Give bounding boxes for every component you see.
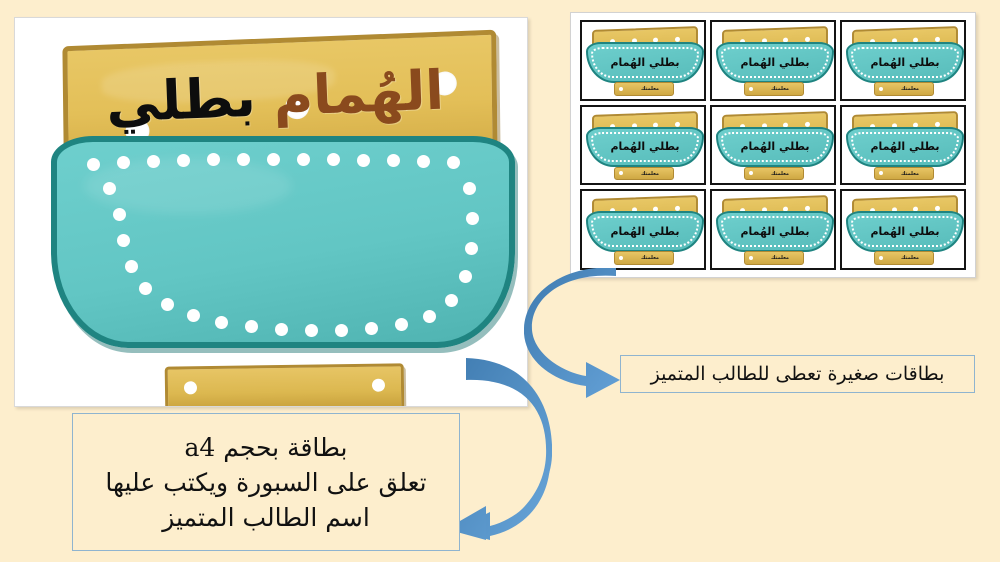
- plate-hole: [749, 256, 753, 260]
- mini-card[interactable]: بطلي الهُمام معلمتك: [580, 189, 706, 270]
- mini-card[interactable]: بطلي الهُمام معلمتك: [840, 105, 966, 186]
- mini-card-title: بطلي الهُمام: [740, 140, 809, 153]
- mini-card[interactable]: بطلي الهُمام معلمتك: [710, 20, 836, 101]
- mini-nameplate: معلمتك: [744, 82, 805, 95]
- mini-card-title: بطلي الهُمام: [870, 140, 939, 153]
- a4-teal-body: [51, 136, 515, 348]
- plate-hole: [372, 379, 385, 392]
- a4-card-panel[interactable]: الهُمام بطلي: [14, 17, 528, 407]
- banner-hole: [675, 206, 680, 211]
- mini-teal-body: بطلي الهُمام: [586, 211, 705, 252]
- banner-hole: [805, 206, 810, 211]
- mini-nameplate: معلمتك: [614, 82, 675, 95]
- mini-card-title: بطلي الهُمام: [740, 56, 809, 69]
- mini-card-title: بطلي الهُمام: [870, 225, 939, 238]
- mini-plate-label: معلمتك: [901, 86, 919, 92]
- mini-cards-sheet[interactable]: بطلي الهُمام معلمتك بطلي الهُمام معلمتك: [570, 12, 976, 278]
- mini-plate-label: معلمتك: [771, 86, 789, 92]
- callout-a4-card[interactable]: بطاقة بحجم a4 تعلق على السبورة ويكتب علي…: [72, 413, 460, 551]
- a4-gold-nameplate: [165, 363, 405, 407]
- banner-hole: [935, 121, 940, 126]
- banner-hole: [675, 36, 680, 41]
- plate-hole: [879, 171, 883, 175]
- mini-plate-label: معلمتك: [641, 86, 659, 92]
- callout-right-text: بطاقات صغيرة تعطى للطالب المتميز: [651, 363, 945, 385]
- callout-mini-cards[interactable]: بطاقات صغيرة تعطى للطالب المتميز: [620, 355, 975, 393]
- mini-teal-body: بطلي الهُمام: [586, 42, 705, 83]
- mini-card-title: بطلي الهُمام: [610, 56, 679, 69]
- banner-hole: [805, 121, 810, 126]
- mini-nameplate: معلمتك: [614, 167, 675, 181]
- mini-teal-body: بطلي الهُمام: [716, 42, 835, 83]
- banner-hole: [675, 121, 680, 126]
- mini-card-title: بطلي الهُمام: [740, 225, 809, 238]
- mini-card-title: بطلي الهُمام: [870, 56, 939, 69]
- mini-card[interactable]: بطلي الهُمام معلمتك: [840, 20, 966, 101]
- plate-hole: [184, 381, 197, 394]
- slide-canvas: الهُمام بطلي: [0, 0, 1000, 562]
- mini-nameplate: معلمتك: [874, 251, 935, 264]
- mini-plate-label: معلمتك: [641, 171, 659, 177]
- mini-nameplate: معلمتك: [874, 82, 935, 95]
- mini-plate-label: معلمتك: [901, 255, 919, 261]
- mini-teal-body: بطلي الهُمام: [846, 211, 965, 252]
- mini-card[interactable]: بطلي الهُمام معلمتك: [580, 20, 706, 101]
- plate-hole: [619, 256, 623, 260]
- mini-teal-body: بطلي الهُمام: [846, 127, 965, 168]
- plate-hole: [879, 87, 883, 91]
- mini-card-title: بطلي الهُمام: [610, 140, 679, 153]
- mini-card[interactable]: بطلي الهُمام معلمتك: [710, 105, 836, 186]
- mini-plate-label: معلمتك: [771, 171, 789, 177]
- plate-hole: [749, 87, 753, 91]
- mini-card[interactable]: بطلي الهُمام معلمتك: [840, 189, 966, 270]
- banner-hole: [935, 206, 940, 211]
- mini-plate-label: معلمتك: [771, 255, 789, 261]
- mini-nameplate: معلمتك: [874, 167, 935, 181]
- mini-teal-body: بطلي الهُمام: [846, 42, 965, 83]
- mini-nameplate: معلمتك: [744, 167, 805, 181]
- mini-card[interactable]: بطلي الهُمام معلمتك: [710, 189, 836, 270]
- banner-hole: [285, 95, 309, 120]
- mini-teal-body: بطلي الهُمام: [716, 211, 835, 252]
- plate-hole: [619, 171, 623, 175]
- callout-bottom-line-1: بطاقة بحجم a4: [185, 431, 348, 464]
- plate-hole: [749, 171, 753, 175]
- mini-card-title: بطلي الهُمام: [610, 225, 679, 238]
- mini-teal-body: بطلي الهُمام: [586, 127, 705, 168]
- banner-hole: [935, 36, 940, 41]
- callout-bottom-line-3: اسم الطالب المتميز: [162, 501, 370, 534]
- callout-bottom-line-2: تعلق على السبورة ويكتب عليها: [105, 466, 426, 499]
- mini-plate-label: معلمتك: [641, 255, 659, 261]
- plate-hole: [879, 256, 883, 260]
- plate-hole: [619, 87, 623, 91]
- mini-nameplate: معلمتك: [614, 251, 675, 264]
- mini-nameplate: معلمتك: [744, 251, 805, 264]
- banner-hole: [433, 71, 457, 96]
- banner-hole: [805, 36, 810, 41]
- mini-plate-label: معلمتك: [901, 171, 919, 177]
- mini-teal-body: بطلي الهُمام: [716, 127, 835, 168]
- mini-card[interactable]: بطلي الهُمام معلمتك: [580, 105, 706, 186]
